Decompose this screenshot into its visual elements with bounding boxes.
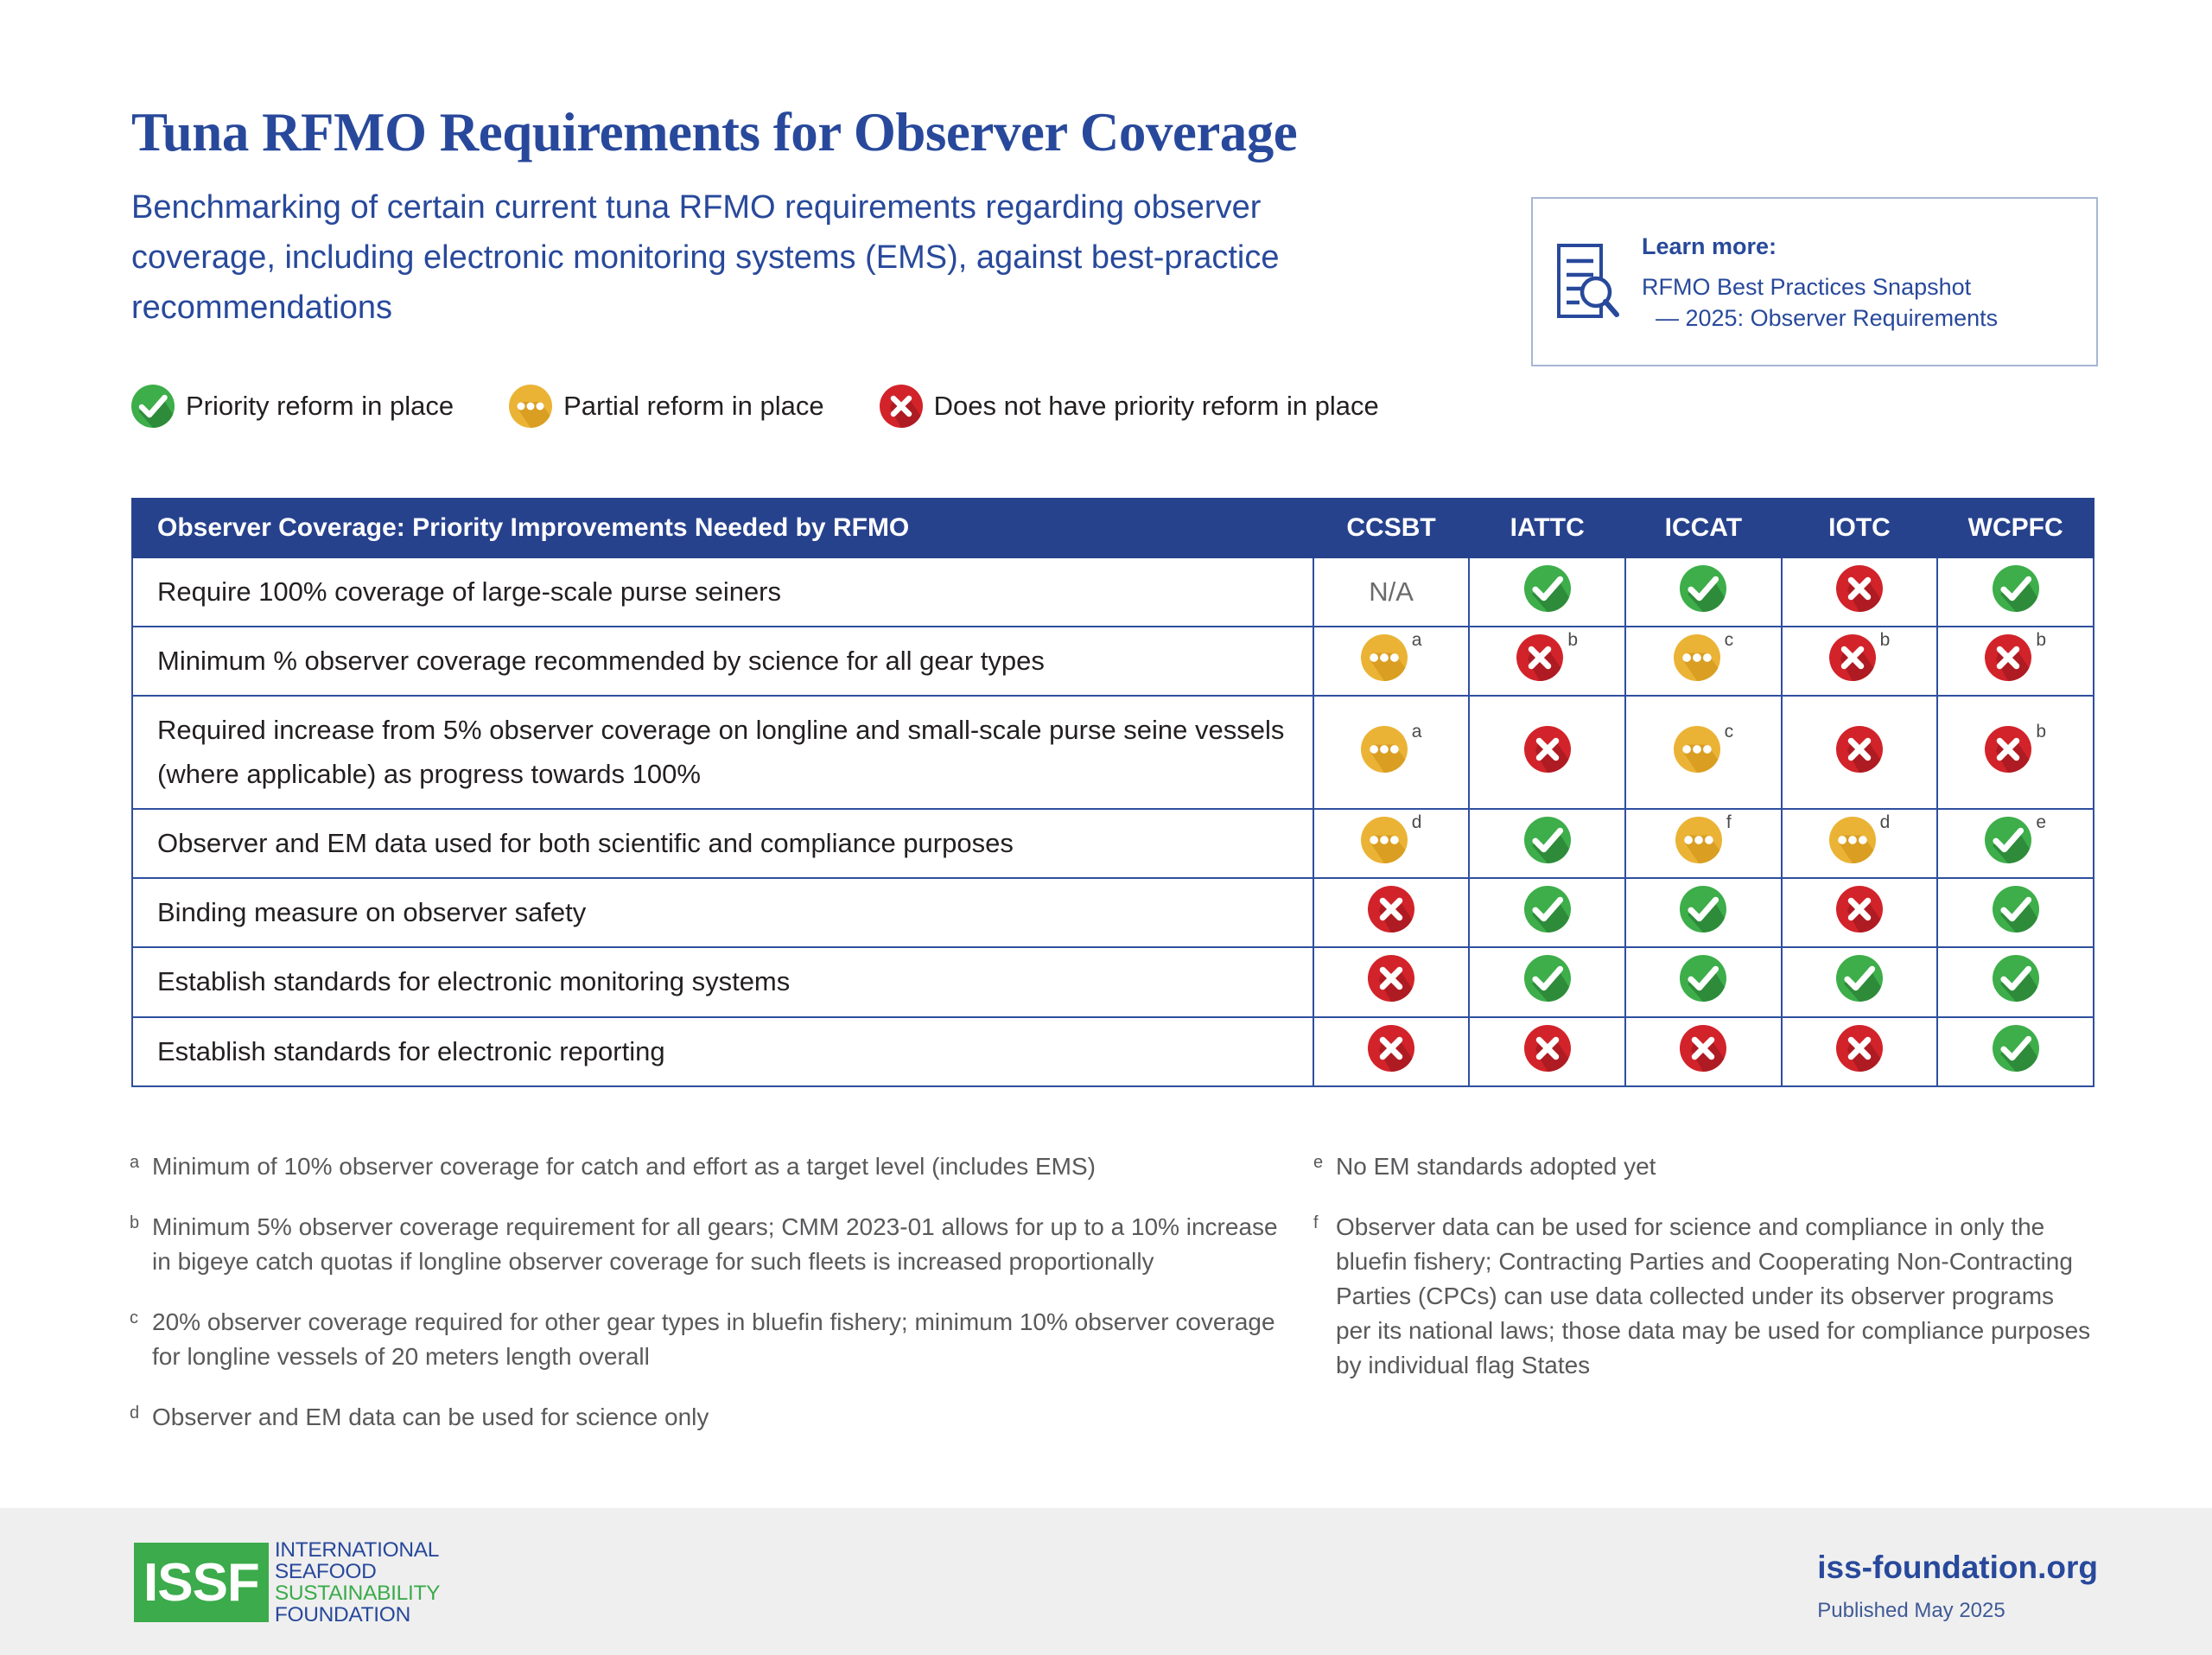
status-cell-ccsbt: a	[1313, 696, 1470, 808]
status-cell-ccsbt: a	[1313, 627, 1470, 696]
status-cell-ccsbt: d	[1313, 809, 1470, 878]
legend-label-partial: Partial reform in place	[563, 391, 824, 422]
check-circle-icon	[1993, 955, 2039, 1002]
footnote-mark: c	[130, 1305, 152, 1374]
table-header-row: Observer Coverage: Priority Improvements…	[132, 499, 2094, 557]
x-circle-icon	[1524, 726, 1571, 773]
footnote-mark: a	[130, 1149, 152, 1184]
status-cell-iccat	[1625, 1017, 1782, 1086]
status-cell-iccat: c	[1625, 696, 1782, 808]
legend: Priority reform in place Partial reform …	[131, 385, 1379, 428]
status-cell-wcpfc	[1937, 878, 2094, 947]
legend-item-yes: Priority reform in place	[131, 385, 454, 428]
check-circle-icon	[1993, 565, 2039, 612]
table-row: Require 100% coverage of large-scale pur…	[132, 557, 2094, 627]
footer-site-info: iss-foundation.org Published May 2025	[1817, 1550, 2098, 1623]
requirement-cell: Require 100% coverage of large-scale pur…	[132, 557, 1313, 627]
logo-line-seafood: SEAFOOD	[275, 1561, 440, 1582]
check-circle-icon	[1524, 565, 1571, 612]
requirement-cell: Establish standards for electronic monit…	[132, 947, 1313, 1016]
column-header-iattc: IATTC	[1469, 499, 1625, 557]
footnote-marker: b	[2036, 631, 2046, 649]
footnote: eNo EM standards adopted yet	[1313, 1149, 2095, 1184]
check-circle-icon	[1993, 1025, 2039, 1072]
requirement-cell: Minimum % observer coverage recommended …	[132, 627, 1313, 696]
footnote-marker: f	[1726, 813, 1732, 831]
status-cell-wcpfc: e	[1937, 809, 2094, 878]
x-circle-icon	[1680, 1025, 1726, 1072]
dots-circle-icon	[1674, 634, 1720, 681]
footnote: bMinimum 5% observer coverage requiremen…	[130, 1210, 1300, 1279]
footnote-marker: c	[1725, 631, 1734, 649]
status-cell-iattc: b	[1469, 627, 1625, 696]
x-circle-icon	[1836, 1025, 1883, 1072]
dots-circle-icon	[1361, 817, 1408, 863]
footnote: c20% observer coverage required for othe…	[130, 1305, 1300, 1374]
footnote-marker: b	[2036, 722, 2046, 741]
requirement-cell: Required increase from 5% observer cover…	[132, 696, 1313, 808]
dots-circle-icon	[509, 385, 552, 428]
status-cell-iccat	[1625, 557, 1782, 627]
footnote-text: No EM standards adopted yet	[1336, 1149, 2095, 1184]
dots-circle-icon	[1361, 634, 1408, 681]
document-magnifier-icon	[1555, 242, 1621, 321]
check-circle-icon	[1524, 817, 1571, 863]
page-subtitle: Benchmarking of certain current tuna RFM…	[131, 183, 1281, 333]
check-circle-icon	[1836, 955, 1883, 1002]
learn-more-link-line1: RFMO Best Practices Snapshot	[1642, 274, 1971, 300]
status-cell-iattc	[1469, 809, 1625, 878]
status-cell-iattc	[1469, 557, 1625, 627]
status-cell-iotc	[1782, 1017, 1938, 1086]
footnote-marker: a	[1412, 631, 1422, 649]
footnotes-left-column: aMinimum of 10% observer coverage for ca…	[130, 1149, 1300, 1461]
logo-line-foundation: FOUNDATION	[275, 1604, 440, 1626]
requirement-cell: Establish standards for electronic repor…	[132, 1017, 1313, 1086]
status-na-text: N/A	[1369, 578, 1414, 605]
issf-logo[interactable]: ISSF INTERNATIONAL SEAFOOD SUSTAINABILIT…	[134, 1543, 440, 1622]
footnote-marker: b	[1880, 631, 1891, 649]
x-circle-icon	[1836, 565, 1883, 612]
status-cell-iattc	[1469, 1017, 1625, 1086]
footnote-marker: b	[1567, 631, 1578, 649]
status-cell-iotc: d	[1782, 809, 1938, 878]
column-header-iotc: IOTC	[1782, 499, 1938, 557]
status-cell-ccsbt	[1313, 1017, 1470, 1086]
status-cell-iotc	[1782, 557, 1938, 627]
x-circle-icon	[1829, 634, 1876, 681]
legend-item-partial: Partial reform in place	[509, 385, 824, 428]
table-row: Observer and EM data used for both scien…	[132, 809, 2094, 878]
check-circle-icon	[131, 385, 175, 428]
column-header-requirement: Observer Coverage: Priority Improvements…	[132, 499, 1313, 557]
check-circle-icon	[1680, 565, 1726, 612]
check-circle-icon	[1993, 886, 2039, 933]
footnote-text: 20% observer coverage required for other…	[152, 1305, 1300, 1374]
logo-line-sustainability: SUSTAINABILITY	[275, 1582, 440, 1604]
footnote-text: Minimum 5% observer coverage requirement…	[152, 1210, 1300, 1279]
footnote-marker: a	[1412, 722, 1422, 741]
status-cell-iotc: b	[1782, 627, 1938, 696]
learn-more-label: Learn more:	[1642, 233, 1998, 260]
column-header-iccat: ICCAT	[1625, 499, 1782, 557]
status-cell-iattc	[1469, 947, 1625, 1016]
learn-more-link-line2: — 2025: Observer Requirements	[1642, 302, 1998, 334]
status-cell-wcpfc: b	[1937, 627, 2094, 696]
column-header-wcpfc: WCPFC	[1937, 499, 2094, 557]
footnotes-right-column: eNo EM standards adopted yetfObserver da…	[1313, 1149, 2095, 1409]
footnote-marker: d	[1412, 813, 1422, 831]
legend-label-yes: Priority reform in place	[186, 391, 454, 422]
footnote-mark: f	[1313, 1210, 1336, 1383]
status-cell-iotc	[1782, 878, 1938, 947]
legend-item-no: Does not have priority reform in place	[880, 385, 1379, 428]
status-cell-wcpfc	[1937, 1017, 2094, 1086]
table-head: Observer Coverage: Priority Improvements…	[132, 499, 2094, 557]
x-circle-icon	[1368, 1025, 1414, 1072]
x-circle-icon	[1524, 1025, 1571, 1072]
published-date: Published May 2025	[1817, 1599, 2098, 1623]
footnote-mark: e	[1313, 1149, 1336, 1184]
footnote: aMinimum of 10% observer coverage for ca…	[130, 1149, 1300, 1184]
learn-more-box[interactable]: Learn more: RFMO Best Practices Snapshot…	[1531, 197, 2098, 366]
site-url[interactable]: iss-foundation.org	[1817, 1550, 2098, 1586]
status-cell-iccat	[1625, 878, 1782, 947]
dots-circle-icon	[1674, 726, 1720, 773]
status-cell-iccat: c	[1625, 627, 1782, 696]
status-cell-iotc	[1782, 947, 1938, 1016]
status-cell-ccsbt: N/A	[1313, 557, 1470, 627]
requirement-cell: Binding measure on observer safety	[132, 878, 1313, 947]
status-cell-iccat	[1625, 947, 1782, 1016]
x-circle-icon	[1985, 726, 2031, 773]
status-cell-iccat: f	[1625, 809, 1782, 878]
footnote-mark: d	[130, 1400, 152, 1435]
dots-circle-icon	[1675, 817, 1722, 863]
x-circle-icon	[1368, 886, 1414, 933]
column-header-ccsbt: CCSBT	[1313, 499, 1470, 557]
table-body: Require 100% coverage of large-scale pur…	[132, 557, 2094, 1086]
issf-logo-mark: ISSF	[134, 1543, 269, 1622]
status-cell-ccsbt	[1313, 878, 1470, 947]
page-title: Tuna RFMO Requirements for Observer Cove…	[131, 104, 2093, 161]
footnote-text: Observer data can be used for science an…	[1336, 1210, 2095, 1383]
table-row: Minimum % observer coverage recommended …	[132, 627, 2094, 696]
footnote-marker: e	[2036, 813, 2046, 831]
learn-more-link[interactable]: RFMO Best Practices Snapshot — 2025: Obs…	[1642, 274, 1998, 334]
x-circle-icon	[1985, 634, 2031, 681]
x-circle-icon	[880, 385, 923, 428]
footnote-text: Minimum of 10% observer coverage for cat…	[152, 1149, 1300, 1184]
table-row: Required increase from 5% observer cover…	[132, 696, 2094, 808]
x-circle-icon	[1836, 886, 1883, 933]
table-row: Establish standards for electronic repor…	[132, 1017, 2094, 1086]
status-cell-iotc	[1782, 696, 1938, 808]
footnote-marker: c	[1725, 722, 1734, 741]
footnote-mark: b	[130, 1210, 152, 1279]
check-circle-icon	[1524, 886, 1571, 933]
infographic-page: Tuna RFMO Requirements for Observer Cove…	[0, 0, 2212, 1655]
table-row: Binding measure on observer safety	[132, 878, 2094, 947]
observer-coverage-table: Observer Coverage: Priority Improvements…	[131, 498, 2094, 1087]
check-circle-icon	[1524, 955, 1571, 1002]
footnote: fObserver data can be used for science a…	[1313, 1210, 2095, 1383]
footnote: dObserver and EM data can be used for sc…	[130, 1400, 1300, 1435]
table-row: Establish standards for electronic monit…	[132, 947, 2094, 1016]
footnote-text: Observer and EM data can be used for sci…	[152, 1400, 1300, 1435]
check-circle-icon	[1985, 817, 2031, 863]
status-cell-wcpfc: b	[1937, 696, 2094, 808]
check-circle-icon	[1680, 886, 1726, 933]
learn-more-text: Learn more: RFMO Best Practices Snapshot…	[1642, 230, 1998, 334]
logo-line-international: INTERNATIONAL	[275, 1539, 440, 1561]
x-circle-icon	[1516, 634, 1563, 681]
status-cell-wcpfc	[1937, 557, 2094, 627]
x-circle-icon	[1368, 955, 1414, 1002]
footnote-marker: d	[1880, 813, 1891, 831]
dots-circle-icon	[1829, 817, 1876, 863]
issf-logo-wordmark: INTERNATIONAL SEAFOOD SUSTAINABILITY FOU…	[275, 1543, 440, 1622]
dots-circle-icon	[1361, 726, 1408, 773]
x-circle-icon	[1836, 726, 1883, 773]
legend-label-no: Does not have priority reform in place	[934, 391, 1379, 422]
status-cell-ccsbt	[1313, 947, 1470, 1016]
status-cell-iattc	[1469, 878, 1625, 947]
status-cell-iattc	[1469, 696, 1625, 808]
requirement-cell: Observer and EM data used for both scien…	[132, 809, 1313, 878]
check-circle-icon	[1680, 955, 1726, 1002]
status-cell-wcpfc	[1937, 947, 2094, 1016]
